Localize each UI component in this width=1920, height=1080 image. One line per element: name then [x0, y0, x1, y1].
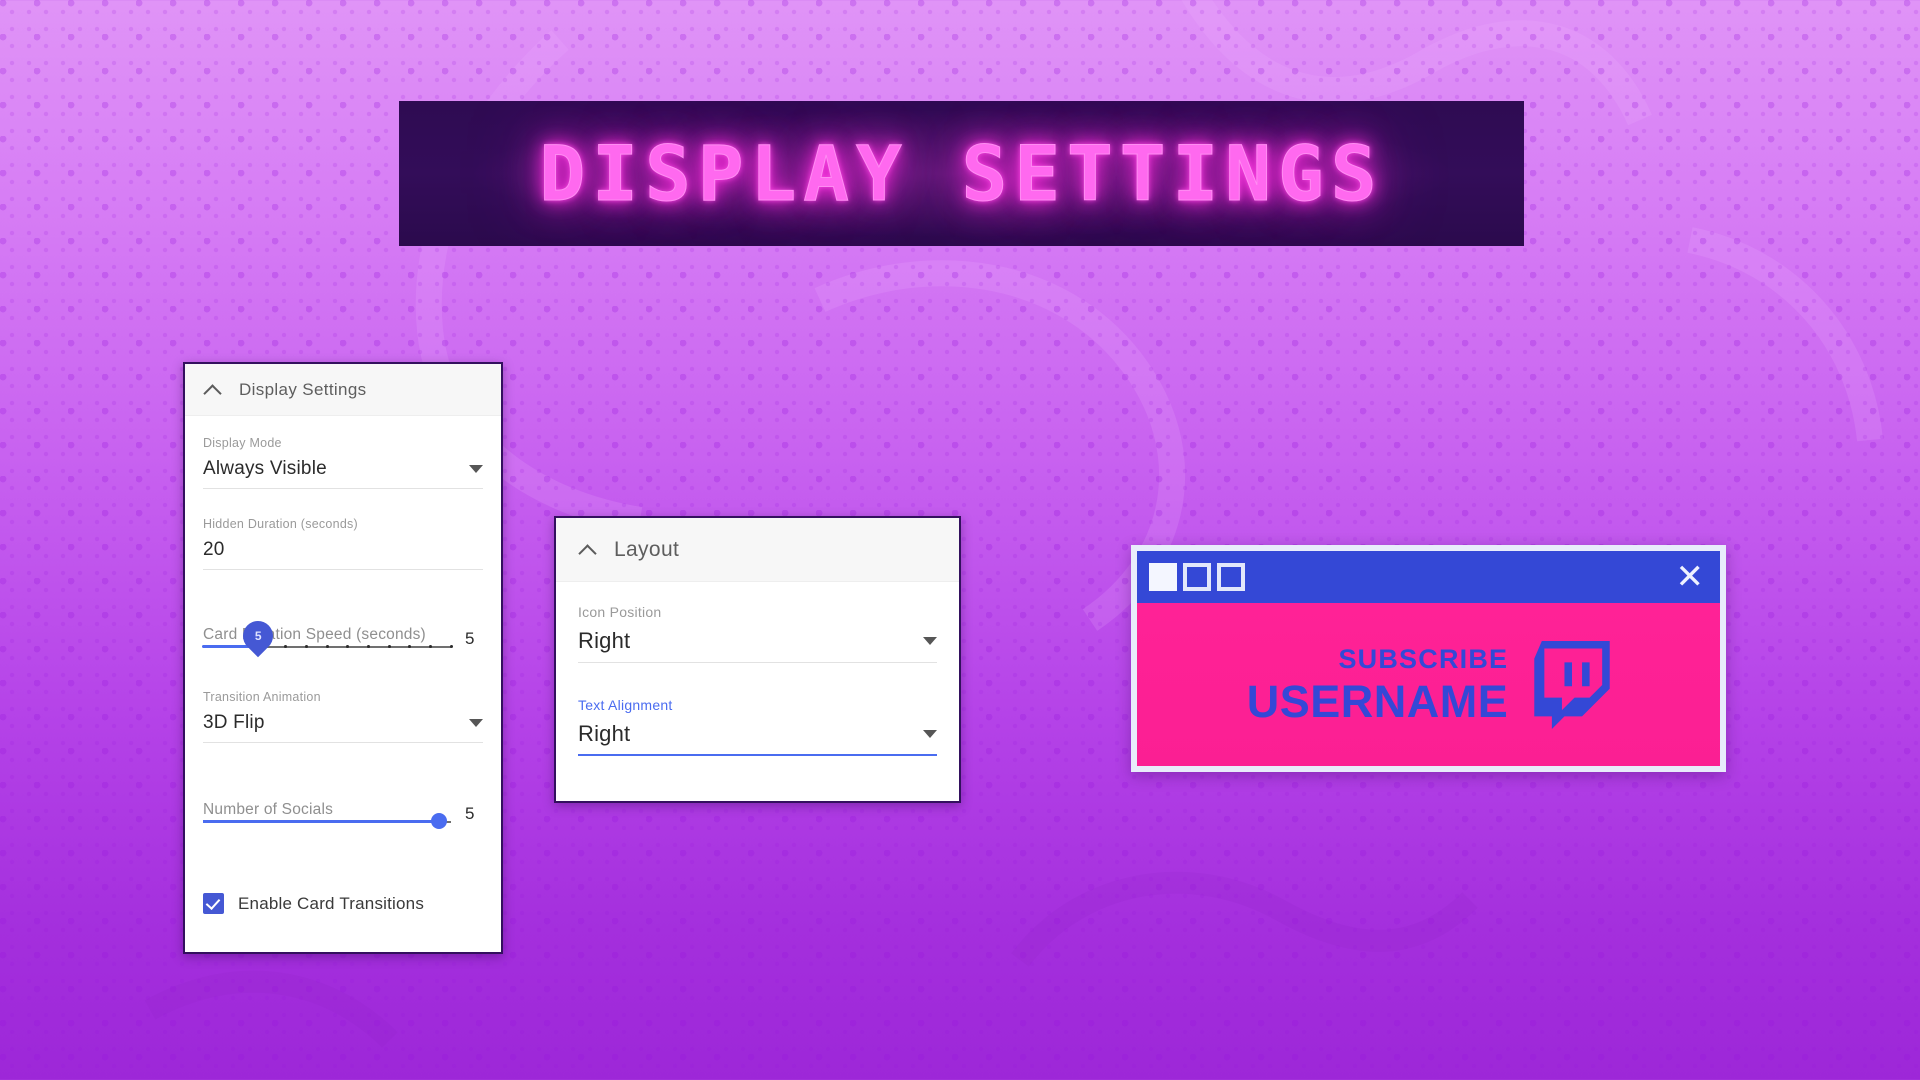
slider-ticks [203, 644, 451, 650]
field-display-mode: Display Mode Always Visible [203, 416, 483, 497]
transition-animation-select[interactable]: 3D Flip [203, 712, 483, 743]
number-of-socials-label: Number of Socials [203, 801, 333, 819]
display-settings-panel-header[interactable]: Display Settings [185, 364, 501, 416]
slider-tick [305, 645, 308, 648]
text-alignment-select[interactable]: Right [578, 721, 937, 756]
header-banner: DISPLAY SETTINGS [399, 101, 1524, 246]
field-hidden-duration: Hidden Duration (seconds) 20 [203, 497, 483, 578]
layout-panel-body: Icon Position Right Text Alignment Right [556, 582, 959, 764]
page-title: DISPLAY SETTINGS [539, 129, 1383, 218]
chevron-up-icon[interactable] [203, 380, 223, 400]
slider-tick [367, 645, 370, 648]
number-of-socials-slider-row: Number of Socials 5 [203, 797, 483, 831]
field-number-of-socials: Number of Socials 5 [203, 751, 483, 839]
card-rotation-speed-slider[interactable]: Card Rotation Speed (seconds) 5 [203, 622, 451, 656]
layout-panel: Layout Icon Position Right Text Alignmen… [554, 516, 961, 803]
card-rotation-speed-slider-row: Card Rotation Speed (seconds) 5 5 [203, 622, 483, 656]
twitch-username-label: USERNAME [1247, 679, 1509, 724]
field-hidden-duration-label: Hidden Duration (seconds) [203, 517, 483, 531]
window-buttons-group [1149, 563, 1245, 591]
caret-down-icon[interactable] [923, 637, 937, 645]
slider-tick [346, 645, 349, 648]
caret-down-icon[interactable] [469, 719, 483, 727]
field-display-mode-label: Display Mode [203, 436, 483, 450]
twitch-subscribe-label: SUBSCRIBE [1247, 646, 1509, 673]
twitch-widget-titlebar: ✕ [1137, 551, 1720, 603]
slider-tick [450, 645, 453, 648]
field-transition-animation: Transition Animation 3D Flip [203, 664, 483, 751]
window-button-minimize-icon[interactable] [1149, 563, 1177, 591]
number-of-socials-value: 5 [465, 804, 483, 824]
slider-tick [202, 645, 205, 648]
field-text-alignment: Text Alignment Right [578, 671, 937, 764]
enable-card-transitions-checkbox[interactable] [203, 893, 224, 914]
layout-panel-header[interactable]: Layout [556, 518, 959, 582]
twitch-glitch-icon [1534, 641, 1610, 729]
field-transition-animation-label: Transition Animation [203, 690, 483, 704]
display-settings-panel-title: Display Settings [239, 380, 367, 400]
display-settings-panel-body: Display Mode Always Visible Hidden Durat… [185, 416, 501, 914]
window-button-restore-icon[interactable] [1217, 563, 1245, 591]
twitch-subscribe-widget: ✕ SUBSCRIBE USERNAME [1131, 545, 1726, 772]
slider-tick [222, 645, 225, 648]
hidden-duration-value: 20 [203, 539, 225, 561]
field-card-rotation-speed: Card Rotation Speed (seconds) 5 5 [203, 578, 483, 664]
icon-position-select[interactable]: Right [578, 628, 937, 663]
icon-position-value: Right [578, 628, 630, 654]
slider-thumb-round[interactable] [431, 813, 447, 829]
slider-thumb-pin[interactable]: 5 [236, 615, 278, 657]
caret-down-icon[interactable] [923, 730, 937, 738]
slider-tick [326, 645, 329, 648]
field-icon-position-label: Icon Position [578, 604, 937, 620]
transition-animation-value: 3D Flip [203, 712, 265, 734]
slider-tick [408, 645, 411, 648]
card-rotation-speed-value: 5 [465, 629, 483, 649]
hidden-duration-input[interactable]: 20 [203, 539, 483, 570]
caret-down-icon[interactable] [469, 465, 483, 473]
enable-card-transitions-label: Enable Card Transitions [238, 894, 424, 914]
slider-fill [203, 820, 439, 823]
number-of-socials-slider[interactable]: Number of Socials [203, 797, 451, 831]
layout-panel-title: Layout [614, 538, 679, 562]
slider-tick [284, 645, 287, 648]
window-button-maximize-icon[interactable] [1183, 563, 1211, 591]
slider-thumb-value: 5 [254, 629, 261, 643]
display-mode-select[interactable]: Always Visible [203, 458, 483, 489]
display-settings-panel: Display Settings Display Mode Always Vis… [183, 362, 503, 954]
card-rotation-speed-label: Card Rotation Speed (seconds) [203, 626, 426, 644]
text-alignment-value: Right [578, 721, 630, 747]
close-icon[interactable]: ✕ [1676, 560, 1705, 594]
chevron-up-icon[interactable] [578, 540, 598, 560]
field-icon-position: Icon Position Right [578, 582, 937, 671]
enable-card-transitions-row[interactable]: Enable Card Transitions [203, 893, 483, 914]
twitch-widget-text: SUBSCRIBE USERNAME [1247, 646, 1509, 724]
display-mode-value: Always Visible [203, 458, 327, 480]
field-text-alignment-label: Text Alignment [578, 697, 937, 713]
slider-tick [429, 645, 432, 648]
slider-tick [388, 645, 391, 648]
twitch-widget-body: SUBSCRIBE USERNAME [1137, 603, 1720, 766]
